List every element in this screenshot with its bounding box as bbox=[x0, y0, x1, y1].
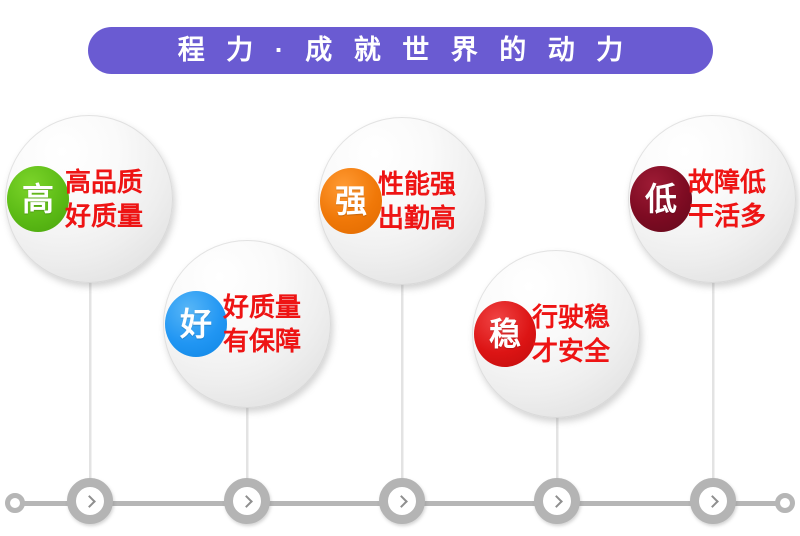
feature-text-1-line1: 高品质 bbox=[65, 167, 143, 198]
chevron-right-icon bbox=[706, 495, 719, 508]
feature-badge-2: 好 bbox=[165, 291, 227, 357]
chevron-right-icon bbox=[83, 495, 96, 508]
feature-text-2-line2: 有保障 bbox=[223, 326, 301, 357]
feature-text-1: 高品质 好质量 bbox=[65, 167, 143, 231]
feature-bubble-1[interactable]: 高 高品质 好质量 bbox=[5, 115, 173, 283]
feature-bubble-2[interactable]: 好 好质量 有保障 bbox=[163, 240, 331, 408]
feature-text-2: 好质量 有保障 bbox=[223, 292, 301, 356]
timeline-node-5[interactable] bbox=[690, 478, 736, 524]
timeline bbox=[0, 466, 800, 536]
chevron-right-icon bbox=[550, 495, 563, 508]
feature-badge-1: 高 bbox=[7, 166, 69, 232]
page-title-banner: 程 力 · 成 就 世 界 的 动 力 bbox=[88, 27, 713, 74]
stem-connector-1 bbox=[89, 281, 91, 491]
stem-connector-5 bbox=[712, 281, 714, 491]
feature-text-4: 行驶稳 才安全 bbox=[532, 302, 610, 366]
feature-bubble-4[interactable]: 稳 行驶稳 才安全 bbox=[472, 250, 640, 418]
feature-badge-5: 低 bbox=[630, 166, 692, 232]
feature-text-3: 性能强 出勤高 bbox=[378, 169, 456, 233]
feature-badge-3: 强 bbox=[320, 168, 382, 234]
feature-bubble-5-content: 低 故障低 干活多 bbox=[628, 115, 796, 283]
feature-text-3-line1: 性能强 bbox=[378, 169, 456, 200]
feature-text-2-line1: 好质量 bbox=[223, 292, 301, 323]
feature-bubble-5[interactable]: 低 故障低 干活多 bbox=[628, 115, 796, 283]
feature-text-5: 故障低 干活多 bbox=[688, 167, 766, 231]
feature-text-5-line2: 干活多 bbox=[688, 201, 766, 232]
chevron-right-icon bbox=[240, 495, 253, 508]
timeline-node-4[interactable] bbox=[534, 478, 580, 524]
feature-bubble-4-content: 稳 行驶稳 才安全 bbox=[472, 250, 640, 418]
timeline-end-dot-right-icon bbox=[775, 493, 795, 513]
feature-bubble-3-content: 强 性能强 出勤高 bbox=[318, 117, 486, 285]
chevron-right-icon bbox=[395, 495, 408, 508]
feature-bubble-1-content: 高 高品质 好质量 bbox=[5, 115, 173, 283]
timeline-node-3[interactable] bbox=[379, 478, 425, 524]
feature-text-4-line1: 行驶稳 bbox=[532, 302, 610, 333]
stem-connector-3 bbox=[401, 283, 403, 491]
feature-bubble-3[interactable]: 强 性能强 出勤高 bbox=[318, 117, 486, 285]
feature-text-1-line2: 好质量 bbox=[65, 201, 143, 232]
timeline-node-1[interactable] bbox=[67, 478, 113, 524]
page-title: 程 力 · 成 就 世 界 的 动 力 bbox=[171, 37, 631, 64]
feature-bubble-2-content: 好 好质量 有保障 bbox=[163, 240, 331, 408]
feature-text-5-line1: 故障低 bbox=[688, 167, 766, 198]
feature-badge-4: 稳 bbox=[474, 301, 536, 367]
feature-text-4-line2: 才安全 bbox=[532, 336, 610, 367]
timeline-node-2[interactable] bbox=[224, 478, 270, 524]
timeline-end-dot-left-icon bbox=[5, 493, 25, 513]
feature-text-3-line2: 出勤高 bbox=[378, 203, 456, 234]
